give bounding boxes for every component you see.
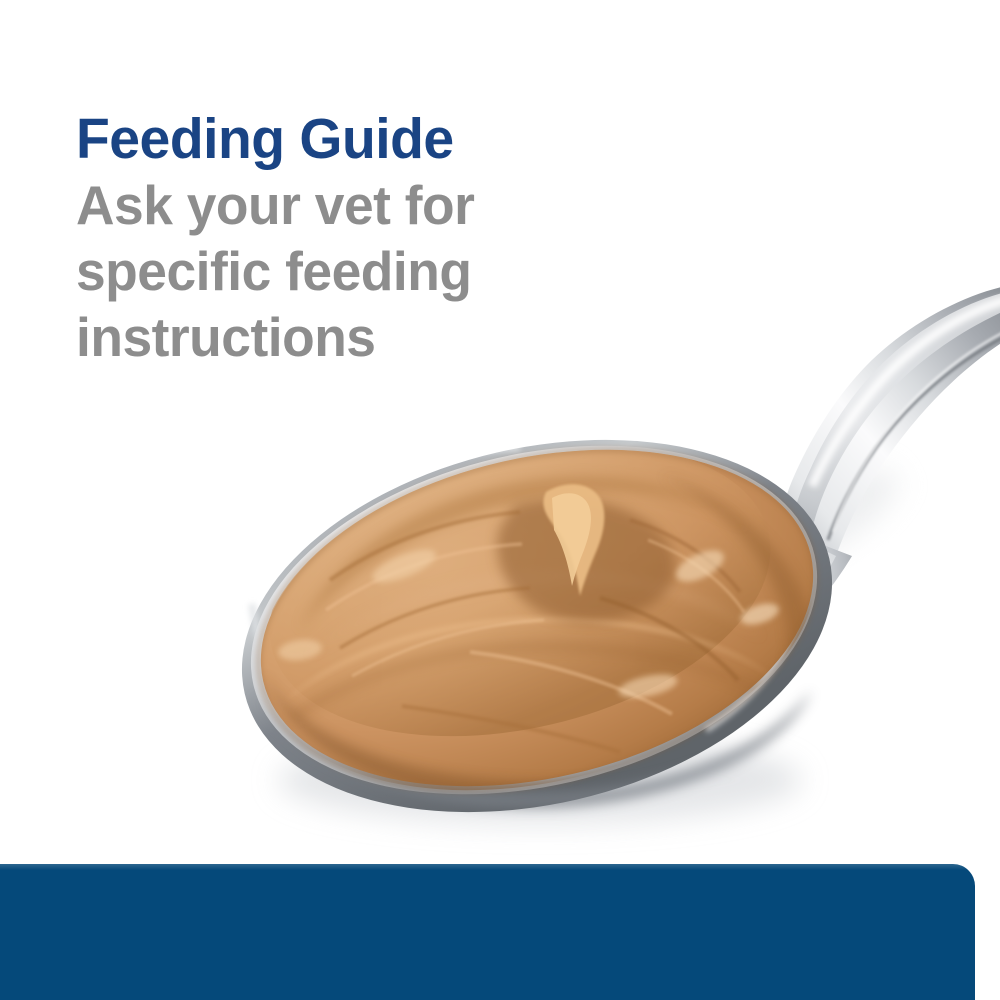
food-edge (225, 398, 849, 841)
page-subtitle: Ask your vet for specific feeding instru… (76, 172, 619, 370)
handle-drop-shadow (749, 454, 911, 587)
footer-band-sheen (0, 864, 975, 870)
spoon-bowl (205, 385, 870, 867)
spoon-neck (694, 528, 852, 682)
pate-food (227, 398, 847, 837)
feeding-guide-panel: Feeding Guide Ask your vet for specific … (0, 0, 1000, 1000)
footer-band (0, 864, 975, 1000)
spoon-handle (779, 286, 1000, 556)
spoon-drop-shadow (278, 736, 802, 824)
heading-group: Feeding Guide Ask your vet for specific … (76, 108, 696, 370)
page-title: Feeding Guide (76, 108, 677, 170)
